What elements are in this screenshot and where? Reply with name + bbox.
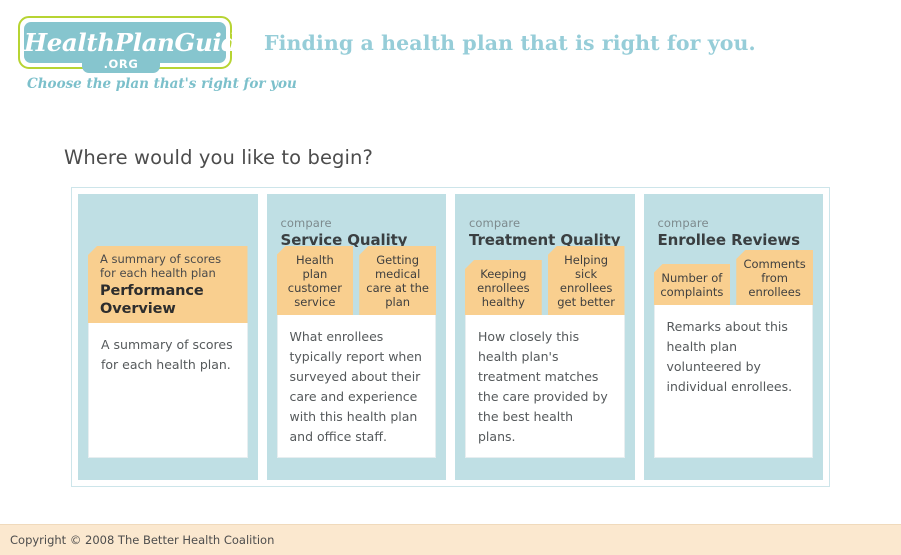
site-footer: Copyright © 2008 The Better Health Coali… (0, 524, 901, 555)
logo-plate: HealthPlanGuide .ORG (18, 16, 232, 69)
card-description: What enrollees typically report when sur… (277, 315, 437, 458)
card-performance-overview[interactable]: A summary of scores for each health plan… (78, 194, 258, 480)
logo-dotorg-tab: .ORG (82, 57, 160, 73)
header-headline: Finding a health plan that is right for … (264, 31, 756, 55)
page-title: Where would you like to begin? (64, 146, 373, 169)
card-eyebrow: compare (281, 216, 433, 230)
card-head: compare Service Quality (267, 194, 447, 246)
card-description: How closely this health plan's treatment… (465, 315, 625, 458)
copyright-text: Copyright © 2008 The Better Health Coali… (10, 533, 274, 547)
card-treatment-quality[interactable]: compare Treatment Quality Keeping enroll… (455, 194, 635, 480)
tab-number-of-complaints[interactable]: Number of complaints (654, 264, 731, 305)
card-head: compare Treatment Quality (455, 194, 635, 246)
tab-comments-from-enrollees[interactable]: Comments from enrollees (736, 250, 813, 305)
card-eyebrow: compare (469, 216, 621, 230)
card-head: compare Enrollee Reviews (644, 194, 824, 250)
card-tab-row: A summary of scores for each health plan… (78, 246, 258, 323)
site-logo[interactable]: HealthPlanGuide .ORG Choose the plan tha… (18, 16, 232, 69)
card-eyebrow: compare (658, 216, 810, 230)
tab-health-plan-customer-service[interactable]: Health plan customer service (277, 246, 354, 315)
tab-subtitle: A summary of scores for each health plan (100, 252, 238, 280)
card-tab-row: Number of complaints Comments from enrol… (644, 250, 824, 305)
card-footer-strip (455, 458, 635, 480)
card-tab-row: Keeping enrollees healthy Helping sick e… (455, 246, 635, 315)
logo-tagline: Choose the plan that's right for you (27, 76, 297, 92)
tab-keeping-enrollees-healthy[interactable]: Keeping enrollees healthy (465, 260, 542, 315)
begin-chooser-panel: A summary of scores for each health plan… (71, 187, 830, 487)
chooser-card-row: A summary of scores for each health plan… (78, 194, 823, 480)
card-footer-strip (644, 458, 824, 480)
tab-helping-sick-enrollees-get-better[interactable]: Helping sick enrollees get better (548, 246, 625, 315)
card-description: Remarks about this health plan volunteer… (654, 305, 814, 458)
card-description: A summary of scores for each health plan… (88, 323, 248, 458)
card-tab-row: Health plan customer service Getting med… (267, 246, 447, 315)
card-enrollee-reviews[interactable]: compare Enrollee Reviews Number of compl… (644, 194, 824, 480)
tab-getting-medical-care-at-the-plan[interactable]: Getting medical care at the plan (359, 246, 436, 315)
site-header: HealthPlanGuide .ORG Choose the plan tha… (0, 0, 901, 118)
card-footer-strip (267, 458, 447, 480)
card-heading: Enrollee Reviews (658, 231, 810, 250)
card-footer-strip (78, 458, 258, 480)
card-service-quality[interactable]: compare Service Quality Health plan cust… (267, 194, 447, 480)
logo-dotorg-label: .ORG (82, 57, 160, 72)
tab-performance-overview[interactable]: A summary of scores for each health plan… (88, 246, 248, 323)
card-head (78, 194, 258, 246)
tab-title: Performance Overview (100, 282, 238, 318)
